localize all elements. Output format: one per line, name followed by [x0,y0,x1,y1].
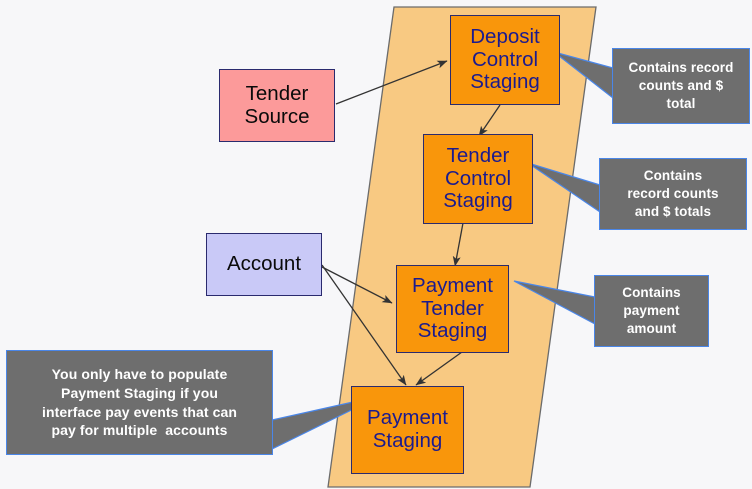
callout-line: Payment Staging if you [61,384,218,403]
callout-deposit-control-staging: Contains record counts and $ total [612,48,750,124]
node-label-line: Staging [418,320,488,343]
node-label-line: Staging [373,430,443,453]
node-label-line: Staging [470,71,540,94]
node-tender-source[interactable]: Tender Source [219,69,335,142]
callout-line: counts and $ [639,77,723,95]
callout-line: Contains [622,284,681,302]
node-account[interactable]: Account [206,233,322,296]
node-tender-control-staging[interactable]: Tender Control Staging [423,134,533,224]
callout-payment-tender-staging: Contains payment amount [594,275,709,347]
callout-line: pay for multiple accounts [51,421,227,440]
node-label-line: Payment [412,275,493,298]
callout-line: amount [627,320,676,338]
callout-tender-control-staging: Contains record counts and $ totals [599,158,747,230]
node-label-line: Source [245,106,310,129]
node-deposit-control-staging[interactable]: Deposit Control Staging [450,15,560,105]
diagram-canvas: Deposit Control Staging Tender Control S… [0,0,752,489]
callout-line: You only have to populate [52,365,228,384]
callout-payment-staging: You only have to populate Payment Stagin… [6,350,273,455]
callout-line: Contains record [628,59,733,77]
callout-line: interface pay events that can [42,403,237,422]
node-label-line: Tender [421,298,484,321]
node-label-line: Tender [246,83,309,106]
callout-line: record counts [627,185,718,203]
callout-line: payment [623,302,679,320]
node-payment-staging[interactable]: Payment Staging [351,386,464,474]
node-label-line: Deposit [470,26,540,49]
callout-line: Contains [644,167,703,185]
node-label-line: Payment [367,407,448,430]
node-label-line: Account [227,253,301,276]
callout-line: and $ totals [635,203,711,221]
node-payment-tender-staging[interactable]: Payment Tender Staging [396,265,509,353]
callout-line: total [667,95,696,113]
node-label-line: Staging [443,190,513,213]
node-label-line: Tender [447,145,510,168]
node-label-line: Control [472,49,538,72]
node-label-line: Control [445,168,511,191]
